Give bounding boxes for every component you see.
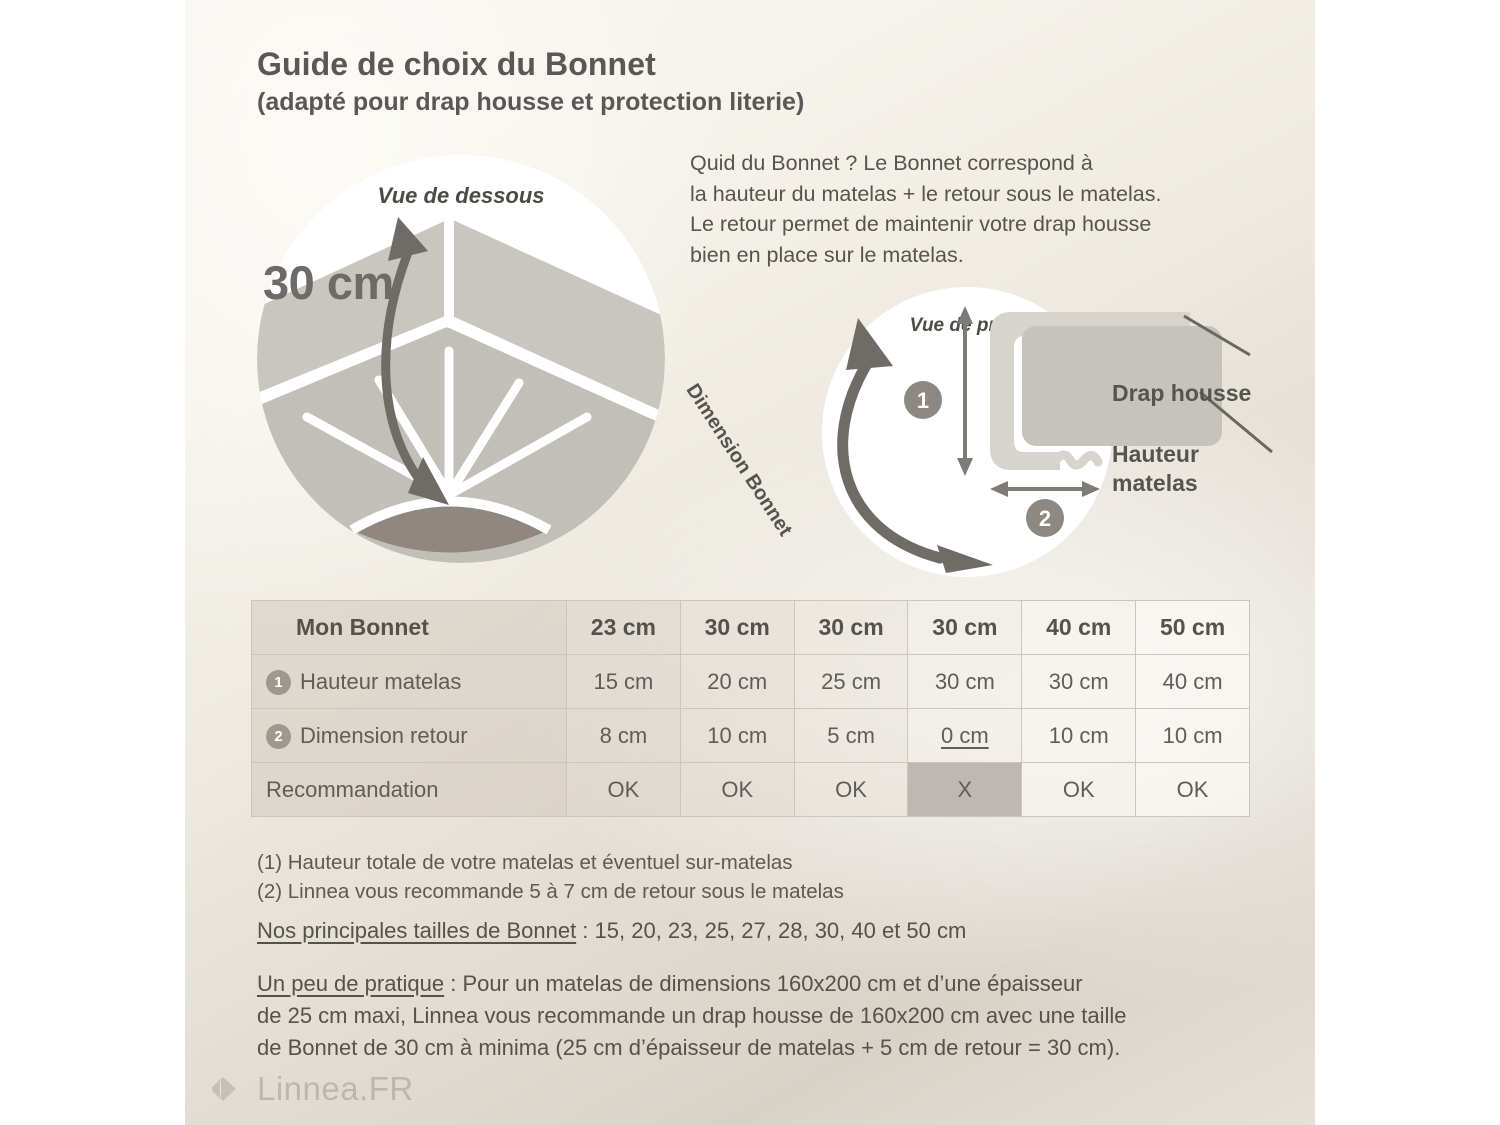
- row-marker-2: 2: [266, 724, 291, 749]
- table-cell: 20 cm: [680, 655, 794, 709]
- bonnet-table: Mon Bonnet 23 cm 30 cm 30 cm 30 cm 40 cm…: [251, 600, 1250, 817]
- diamond-logo-icon: [212, 1075, 246, 1103]
- row-marker-1: 1: [266, 670, 291, 695]
- table-cell: 30 cm: [680, 601, 794, 655]
- diagram-bottom-view: Vue de dessous 30 cm: [257, 155, 665, 563]
- table-cell: 10 cm: [680, 709, 794, 763]
- table-cell: 8 cm: [567, 709, 681, 763]
- practical-example-line-2: de 25 cm maxi, Linnea vous recommande un…: [257, 1000, 1257, 1032]
- table-cell: 15 cm: [567, 655, 681, 709]
- table-cell: 23 cm: [567, 601, 681, 655]
- profile-marker-2: 2: [1039, 506, 1051, 531]
- footnotes: (1) Hauteur totale de votre matelas et é…: [257, 848, 844, 906]
- table-cell: 40 cm: [1136, 655, 1250, 709]
- table-row-label: 1Hauteur matelas: [252, 655, 567, 709]
- intro-line-2: la hauteur du matelas + le retour sous l…: [690, 179, 1270, 210]
- table-cell: OK: [794, 763, 908, 817]
- bonnet-table-body: Mon Bonnet 23 cm 30 cm 30 cm 30 cm 40 cm…: [252, 601, 1250, 817]
- profile-view-illustration: 1 2: [760, 270, 1320, 600]
- footnote-1: (1) Hauteur totale de votre matelas et é…: [257, 848, 844, 877]
- table-row-label: 2Dimension retour: [252, 709, 567, 763]
- table-cell-highlight: 0 cm: [941, 723, 989, 748]
- table-cell: 10 cm: [1136, 709, 1250, 763]
- title-subtitle: (adapté pour drap housse et protection l…: [257, 87, 1157, 118]
- table-cell: OK: [1136, 763, 1250, 817]
- table-cell: 5 cm: [794, 709, 908, 763]
- page-title: Guide de choix du Bonnet (adapté pour dr…: [257, 46, 1157, 117]
- table-cell: 10 cm: [1022, 709, 1136, 763]
- intro-line-4: bien en place sur le matelas.: [690, 240, 1270, 271]
- callout-hauteur-line-2: matelas: [1112, 469, 1199, 498]
- available-sizes-line: Nos principales tailles de Bonnet : 15, …: [257, 918, 966, 944]
- practical-example-label: Un peu de pratique: [257, 971, 444, 996]
- table-cell-not-recommended: X: [908, 763, 1022, 817]
- table-cell: 30 cm: [1022, 655, 1136, 709]
- bottom-view-caption: Vue de dessous: [257, 183, 665, 209]
- table-cell: 30 cm: [908, 655, 1022, 709]
- callout-drap-housse: Drap housse: [1112, 380, 1251, 407]
- logo-text: Linnea.FR: [257, 1070, 414, 1108]
- practical-example-line-1: Un peu de pratique : Pour un matelas de …: [257, 968, 1257, 1000]
- practical-example: Un peu de pratique : Pour un matelas de …: [257, 968, 1257, 1064]
- practical-example-line-3: de Bonnet de 30 cm à minima (25 cm d’épa…: [257, 1032, 1257, 1064]
- table-cell: 25 cm: [794, 655, 908, 709]
- table-cell: 30 cm: [908, 601, 1022, 655]
- table-row: 1Hauteur matelas 15 cm 20 cm 25 cm 30 cm…: [252, 655, 1250, 709]
- table-row: Recommandation OK OK OK X OK OK: [252, 763, 1250, 817]
- table-cell: 30 cm: [794, 601, 908, 655]
- available-sizes-label: Nos principales tailles de Bonnet: [257, 918, 576, 943]
- bottom-view-measure: 30 cm: [263, 255, 423, 310]
- available-sizes-value: : 15, 20, 23, 25, 27, 28, 30, 40 et 50 c…: [576, 918, 966, 943]
- diagram-bottom-view-disc: [257, 155, 665, 563]
- table-row-label-text: Dimension retour: [300, 723, 468, 748]
- table-row-label-text: Hauteur matelas: [300, 669, 461, 694]
- profile-marker-1: 1: [917, 388, 929, 413]
- table-row-label: Recommandation: [252, 763, 567, 817]
- mattress-corner-illustration: [257, 155, 665, 563]
- table-cell: OK: [680, 763, 794, 817]
- linnea-logo[interactable]: Linnea.FR: [212, 1070, 414, 1108]
- footnote-2: (2) Linnea vous recommande 5 à 7 cm de r…: [257, 877, 844, 906]
- intro-line-1: Quid du Bonnet ? Le Bonnet correspond à: [690, 148, 1270, 179]
- table-cell: OK: [1022, 763, 1136, 817]
- table-cell: 40 cm: [1022, 601, 1136, 655]
- table-row: Mon Bonnet 23 cm 30 cm 30 cm 30 cm 40 cm…: [252, 601, 1250, 655]
- infographic-page: Guide de choix du Bonnet (adapté pour dr…: [0, 0, 1500, 1125]
- practical-example-text-1: : Pour un matelas de dimensions 160x200 …: [444, 971, 1082, 996]
- callout-hauteur-matelas: Hauteur matelas: [1112, 440, 1199, 499]
- intro-paragraph: Quid du Bonnet ? Le Bonnet correspond à …: [690, 148, 1270, 270]
- callout-hauteur-line-1: Hauteur: [1112, 440, 1199, 469]
- table-row-label: Mon Bonnet: [252, 601, 567, 655]
- table-row: 2Dimension retour 8 cm 10 cm 5 cm 0 cm 1…: [252, 709, 1250, 763]
- table-cell: 50 cm: [1136, 601, 1250, 655]
- table-cell: 0 cm: [908, 709, 1022, 763]
- title-main: Guide de choix du Bonnet: [257, 46, 1157, 84]
- intro-line-3: Le retour permet de maintenir votre drap…: [690, 209, 1270, 240]
- table-cell: OK: [567, 763, 681, 817]
